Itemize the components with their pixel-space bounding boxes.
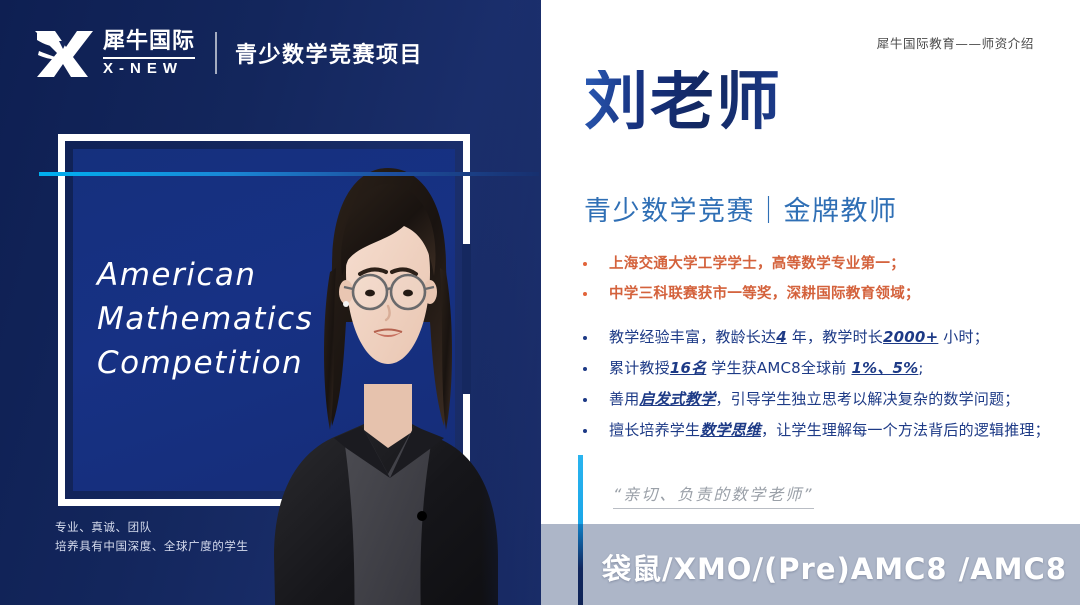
bullet-dot-icon <box>583 398 587 402</box>
brand-wordmark: 犀牛国际 X-NEW <box>103 30 195 77</box>
list-item-emphasis: 数学思维 <box>700 421 761 439</box>
bullet-dot-icon <box>583 367 587 371</box>
eyebrow-label: 犀牛国际教育——师资介绍 <box>877 33 1034 52</box>
list-item-label: 累计教授 <box>609 359 670 377</box>
course-list-label: 袋鼠/XMO/(Pre)AMC8 /AMC8 <box>602 546 1067 588</box>
bullet-dot-icon <box>583 292 587 296</box>
x-new-rhino-logo-icon <box>33 27 95 79</box>
list-item-label: ; <box>918 359 923 377</box>
list-item-emphasis: 4 <box>776 328 787 346</box>
portrait-photo-card: American Mathematics Competition <box>58 134 470 506</box>
list-item-label: ，让学生理解每一个方法背后的逻辑推理； <box>761 421 1050 439</box>
list-item-label: 中学三科联赛获市一等奖，深耕国际教育领域； <box>609 286 920 302</box>
footer-line-1: 专业、真诚、团队 <box>55 518 249 537</box>
bullet-dot-icon <box>583 336 587 340</box>
list-item-label: 教学经验丰富，教龄长达 <box>609 328 776 346</box>
quote-accent-bar <box>578 455 583 525</box>
list-item-label: 小时； <box>938 328 989 346</box>
list-item-label: 善用 <box>609 390 639 408</box>
list-item: 教学经验丰富，教龄长达4 年，教学时长2000+ 小时； <box>579 322 1079 353</box>
list-item: 上海交通大学工学学士，高等数学专业第一； <box>579 249 1079 279</box>
footer-line-2: 培养具有中国深度、全球广度的学生 <box>55 537 249 556</box>
list-item-emphasis: 1%、5% <box>851 359 918 377</box>
brand-rule <box>103 57 195 59</box>
teacher-portrait <box>236 126 536 605</box>
bullet-dot-icon <box>583 429 587 433</box>
left-navy-panel: 犀牛国际 X-NEW 青少数学竞赛项目 American Mathematics… <box>0 0 541 605</box>
page-subtitle: 青少数学竞赛｜金牌教师 <box>584 189 898 228</box>
list-item-emphasis: 2000+ <box>883 328 938 346</box>
title-divider-rule <box>39 172 539 176</box>
brand-logo-lockup[interactable]: 犀牛国际 X-NEW 青少数学竞赛项目 <box>33 22 423 84</box>
left-footer-text: 专业、真诚、团队 培养具有中国深度、全球广度的学生 <box>55 518 249 556</box>
quote-accent-bar-lower <box>578 524 583 605</box>
list-item: 累计教授16名 学生获AMC8全球前 1%、5%; <box>579 353 1079 384</box>
credentials-list: 上海交通大学工学学士，高等数学专业第一；中学三科联赛获市一等奖，深耕国际教育领域… <box>579 249 1079 446</box>
list-gap <box>579 309 1079 322</box>
page-title: 刘老师 <box>584 70 782 134</box>
testimonial-quote: “亲切、负责的数学老师” <box>613 481 814 509</box>
list-item: 中学三科联赛获市一等奖，深耕国际教育领域； <box>579 279 1079 309</box>
list-item-label: ，引导学生独立思考以解决复杂的数学问题； <box>715 390 1019 408</box>
list-item-label: 学生获AMC8全球前 <box>706 359 851 377</box>
list-item-emphasis: 16名 <box>670 359 706 377</box>
brand-tagline: 青少数学竞赛项目 <box>235 37 423 69</box>
list-item-label: 上海交通大学工学学士，高等数学专业第一； <box>609 256 905 272</box>
brand-name-cn: 犀牛国际 <box>103 30 195 54</box>
list-item-label: 擅长培养学生 <box>609 421 700 439</box>
slide-root: 犀牛国际 X-NEW 青少数学竞赛项目 American Mathematics… <box>0 0 1080 605</box>
list-item: 善用启发式教学，引导学生独立思考以解决复杂的数学问题； <box>579 384 1079 415</box>
bullet-dot-icon <box>583 262 587 266</box>
brand-name-en: X-NEW <box>103 61 195 77</box>
list-item-label: 年，教学时长 <box>787 328 883 346</box>
list-item: 擅长培养学生数学思维，让学生理解每一个方法背后的逻辑推理； <box>579 415 1079 446</box>
logo-divider <box>215 32 217 74</box>
list-item-emphasis: 启发式教学 <box>639 390 715 408</box>
bottom-course-bar: 袋鼠/XMO/(Pre)AMC8 /AMC8 <box>541 524 1080 605</box>
